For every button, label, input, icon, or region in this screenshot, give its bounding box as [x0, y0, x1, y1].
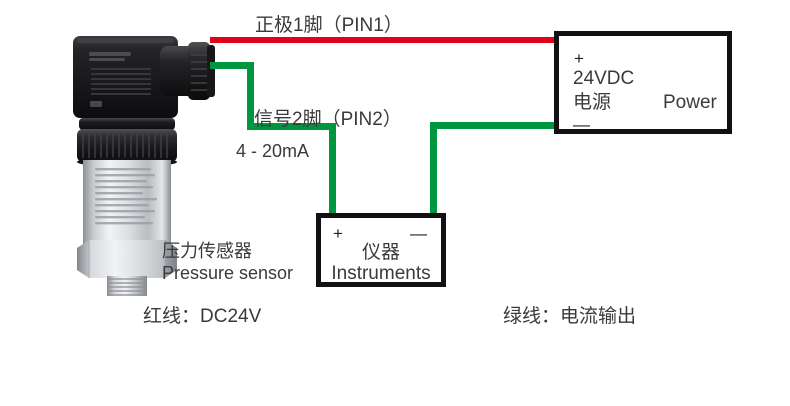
green-wire-to-instrument-minus	[430, 122, 437, 216]
power-plus-terminal: +	[574, 50, 584, 67]
footnote-green-wire: 绿线：电流输出	[503, 305, 636, 329]
instrument-minus-terminal: —	[410, 225, 427, 242]
instrument-plus-terminal: +	[333, 225, 343, 242]
instrument-name-en: Instruments	[321, 264, 441, 284]
wiring-diagram: + 24VDC 电源 Power — + — 仪器 Instruments 正极…	[0, 0, 790, 406]
green-wire-power-minus-horizontal	[430, 122, 558, 129]
green-wire-to-instrument-plus	[329, 123, 336, 216]
power-minus-terminal: —	[573, 116, 590, 133]
power-name-cn: 电源	[573, 93, 611, 113]
footnote-red-wire: 红线：DC24V	[143, 305, 261, 329]
power-voltage-label: 24VDC	[573, 69, 634, 89]
pin2-label: 信号2脚（PIN2）	[254, 108, 402, 132]
instrument-name-cn: 仪器	[321, 243, 441, 263]
sensor-name-en: Pressure sensor	[162, 262, 293, 285]
signal-range-label: 4 - 20mA	[236, 140, 309, 163]
power-name-en: Power	[663, 93, 717, 113]
instrument-box: + — 仪器 Instruments	[316, 213, 446, 287]
power-supply-box: + 24VDC 电源 Power —	[554, 31, 732, 134]
green-wire-pin2-vertical-upper	[247, 62, 254, 130]
pin1-label: 正极1脚（PIN1）	[255, 14, 403, 38]
sensor-name-cn: 压力传感器	[162, 240, 252, 263]
